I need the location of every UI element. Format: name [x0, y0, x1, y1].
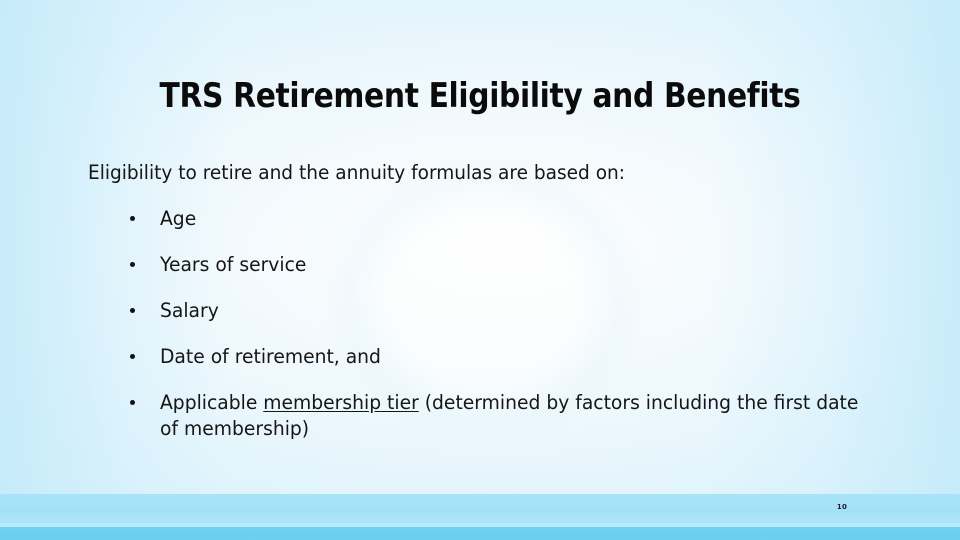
bullet-label: Years of service: [160, 252, 306, 278]
bullet-dot-icon: [130, 262, 135, 267]
page-number: 10: [829, 503, 855, 511]
slide-canvas: TRS Retirement Eligibility and Benefits …: [0, 0, 960, 540]
footer-band: [0, 494, 960, 523]
bullet-dot-icon: [130, 400, 135, 405]
bullet-label: Age: [160, 206, 196, 232]
bullet-label: Applicable membership tier (determined b…: [160, 390, 875, 442]
list-item: Age: [88, 206, 888, 232]
intro-paragraph: Eligibility to retire and the annuity fo…: [88, 160, 848, 186]
bullet-dot-icon: [130, 354, 135, 359]
list-item: Date of retirement, and: [88, 344, 888, 370]
footer-band-accent: [0, 527, 960, 540]
bullet-label: Date of retirement, and: [160, 344, 381, 370]
list-item: Years of service: [88, 252, 888, 278]
bullet-dot-icon: [130, 308, 135, 313]
bullet-lead-text: Applicable: [160, 391, 263, 414]
slide-title: TRS Retirement Eligibility and Benefits: [60, 76, 900, 116]
bullet-dot-icon: [130, 216, 135, 221]
slide-body: Eligibility to retire and the annuity fo…: [88, 160, 888, 462]
list-item: Applicable membership tier (determined b…: [88, 390, 888, 442]
bullet-label: Salary: [160, 298, 219, 324]
bullet-list: Age Years of service Salary Date of reti…: [88, 206, 888, 442]
list-item: Salary: [88, 298, 888, 324]
membership-tier-link[interactable]: membership tier: [263, 391, 419, 414]
